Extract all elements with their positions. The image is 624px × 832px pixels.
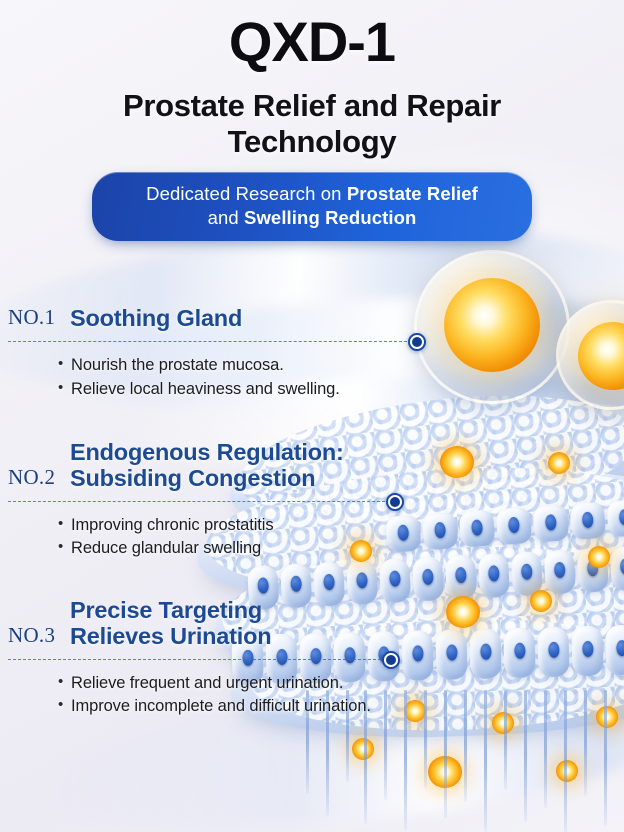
poster-content: QXD-1 Prostate Relief and Repair Technol…	[0, 0, 624, 160]
list-item: Improving chronic prostatitis	[58, 514, 624, 538]
list-item: Improve incomplete and difficult urinati…	[58, 695, 624, 719]
page-subtitle: Prostate Relief and Repair Technology	[0, 88, 624, 160]
glowing-cell	[428, 756, 462, 788]
cell	[379, 558, 411, 604]
banner-text-bold: Prostate Relief	[347, 183, 478, 204]
section-bullets: Improving chronic prostatitis Reduce gla…	[0, 514, 624, 562]
cell	[412, 556, 444, 602]
poster-root: QXD-1 Prostate Relief and Repair Technol…	[0, 0, 624, 832]
connector-dot	[382, 651, 400, 669]
page-title: QXD-1	[0, 0, 624, 70]
section-title: Precise Targeting Relieves Urination	[70, 598, 271, 650]
banner-text-normal: and	[208, 207, 244, 228]
glowing-cell	[352, 738, 374, 760]
section-bullets: Nourish the prostate mucosa. Relieve loc…	[0, 354, 624, 402]
section-title-line-1: Endogenous Regulation:	[70, 440, 344, 466]
section-title-line-2: Relieves Urination	[70, 624, 271, 650]
section-header: NO.1 Soothing Gland	[0, 288, 624, 332]
section-number: NO.1	[8, 305, 70, 332]
section-title-line-1: Soothing Gland	[70, 305, 242, 331]
section-title: Endogenous Regulation: Subsiding Congest…	[70, 440, 344, 492]
feature-section-1: NO.1 Soothing Gland Nourish the prostate…	[0, 288, 624, 402]
dashed-line	[8, 659, 386, 660]
section-title-line-2: Subsiding Congestion	[70, 466, 344, 492]
section-header: NO.3 Precise Targeting Relieves Urinatio…	[0, 598, 624, 650]
section-number: NO.3	[8, 623, 70, 650]
banner-line-1: Dedicated Research on Prostate Relief	[110, 182, 514, 206]
glowing-cell	[556, 760, 578, 782]
banner-text-normal: Dedicated Research on	[146, 183, 347, 204]
section-divider	[0, 337, 624, 347]
cell	[445, 554, 477, 600]
dashed-line	[8, 501, 390, 502]
list-item: Relieve local heaviness and swelling.	[58, 378, 624, 402]
feature-section-3: NO.3 Precise Targeting Relieves Urinatio…	[0, 598, 624, 719]
banner-text-bold: Swelling Reduction	[244, 207, 416, 228]
section-divider	[0, 655, 624, 665]
section-divider	[0, 497, 624, 507]
section-title-line-1: Precise Targeting	[70, 598, 271, 624]
list-item: Reduce glandular swelling	[58, 537, 624, 561]
section-header: NO.2 Endogenous Regulation: Subsiding Co…	[0, 440, 624, 492]
dashed-line	[8, 341, 412, 342]
list-item: Nourish the prostate mucosa.	[58, 354, 624, 378]
list-item: Relieve frequent and urgent urination.	[58, 672, 624, 696]
section-number: NO.2	[8, 465, 70, 492]
connector-dot	[386, 493, 404, 511]
section-title: Soothing Gland	[70, 306, 242, 332]
connector-dot	[408, 333, 426, 351]
banner-line-2: and Swelling Reduction	[110, 206, 514, 230]
highlight-banner: Dedicated Research on Prostate Relief an…	[92, 172, 532, 241]
feature-section-2: NO.2 Endogenous Regulation: Subsiding Co…	[0, 440, 624, 561]
section-bullets: Relieve frequent and urgent urination. I…	[0, 672, 624, 720]
